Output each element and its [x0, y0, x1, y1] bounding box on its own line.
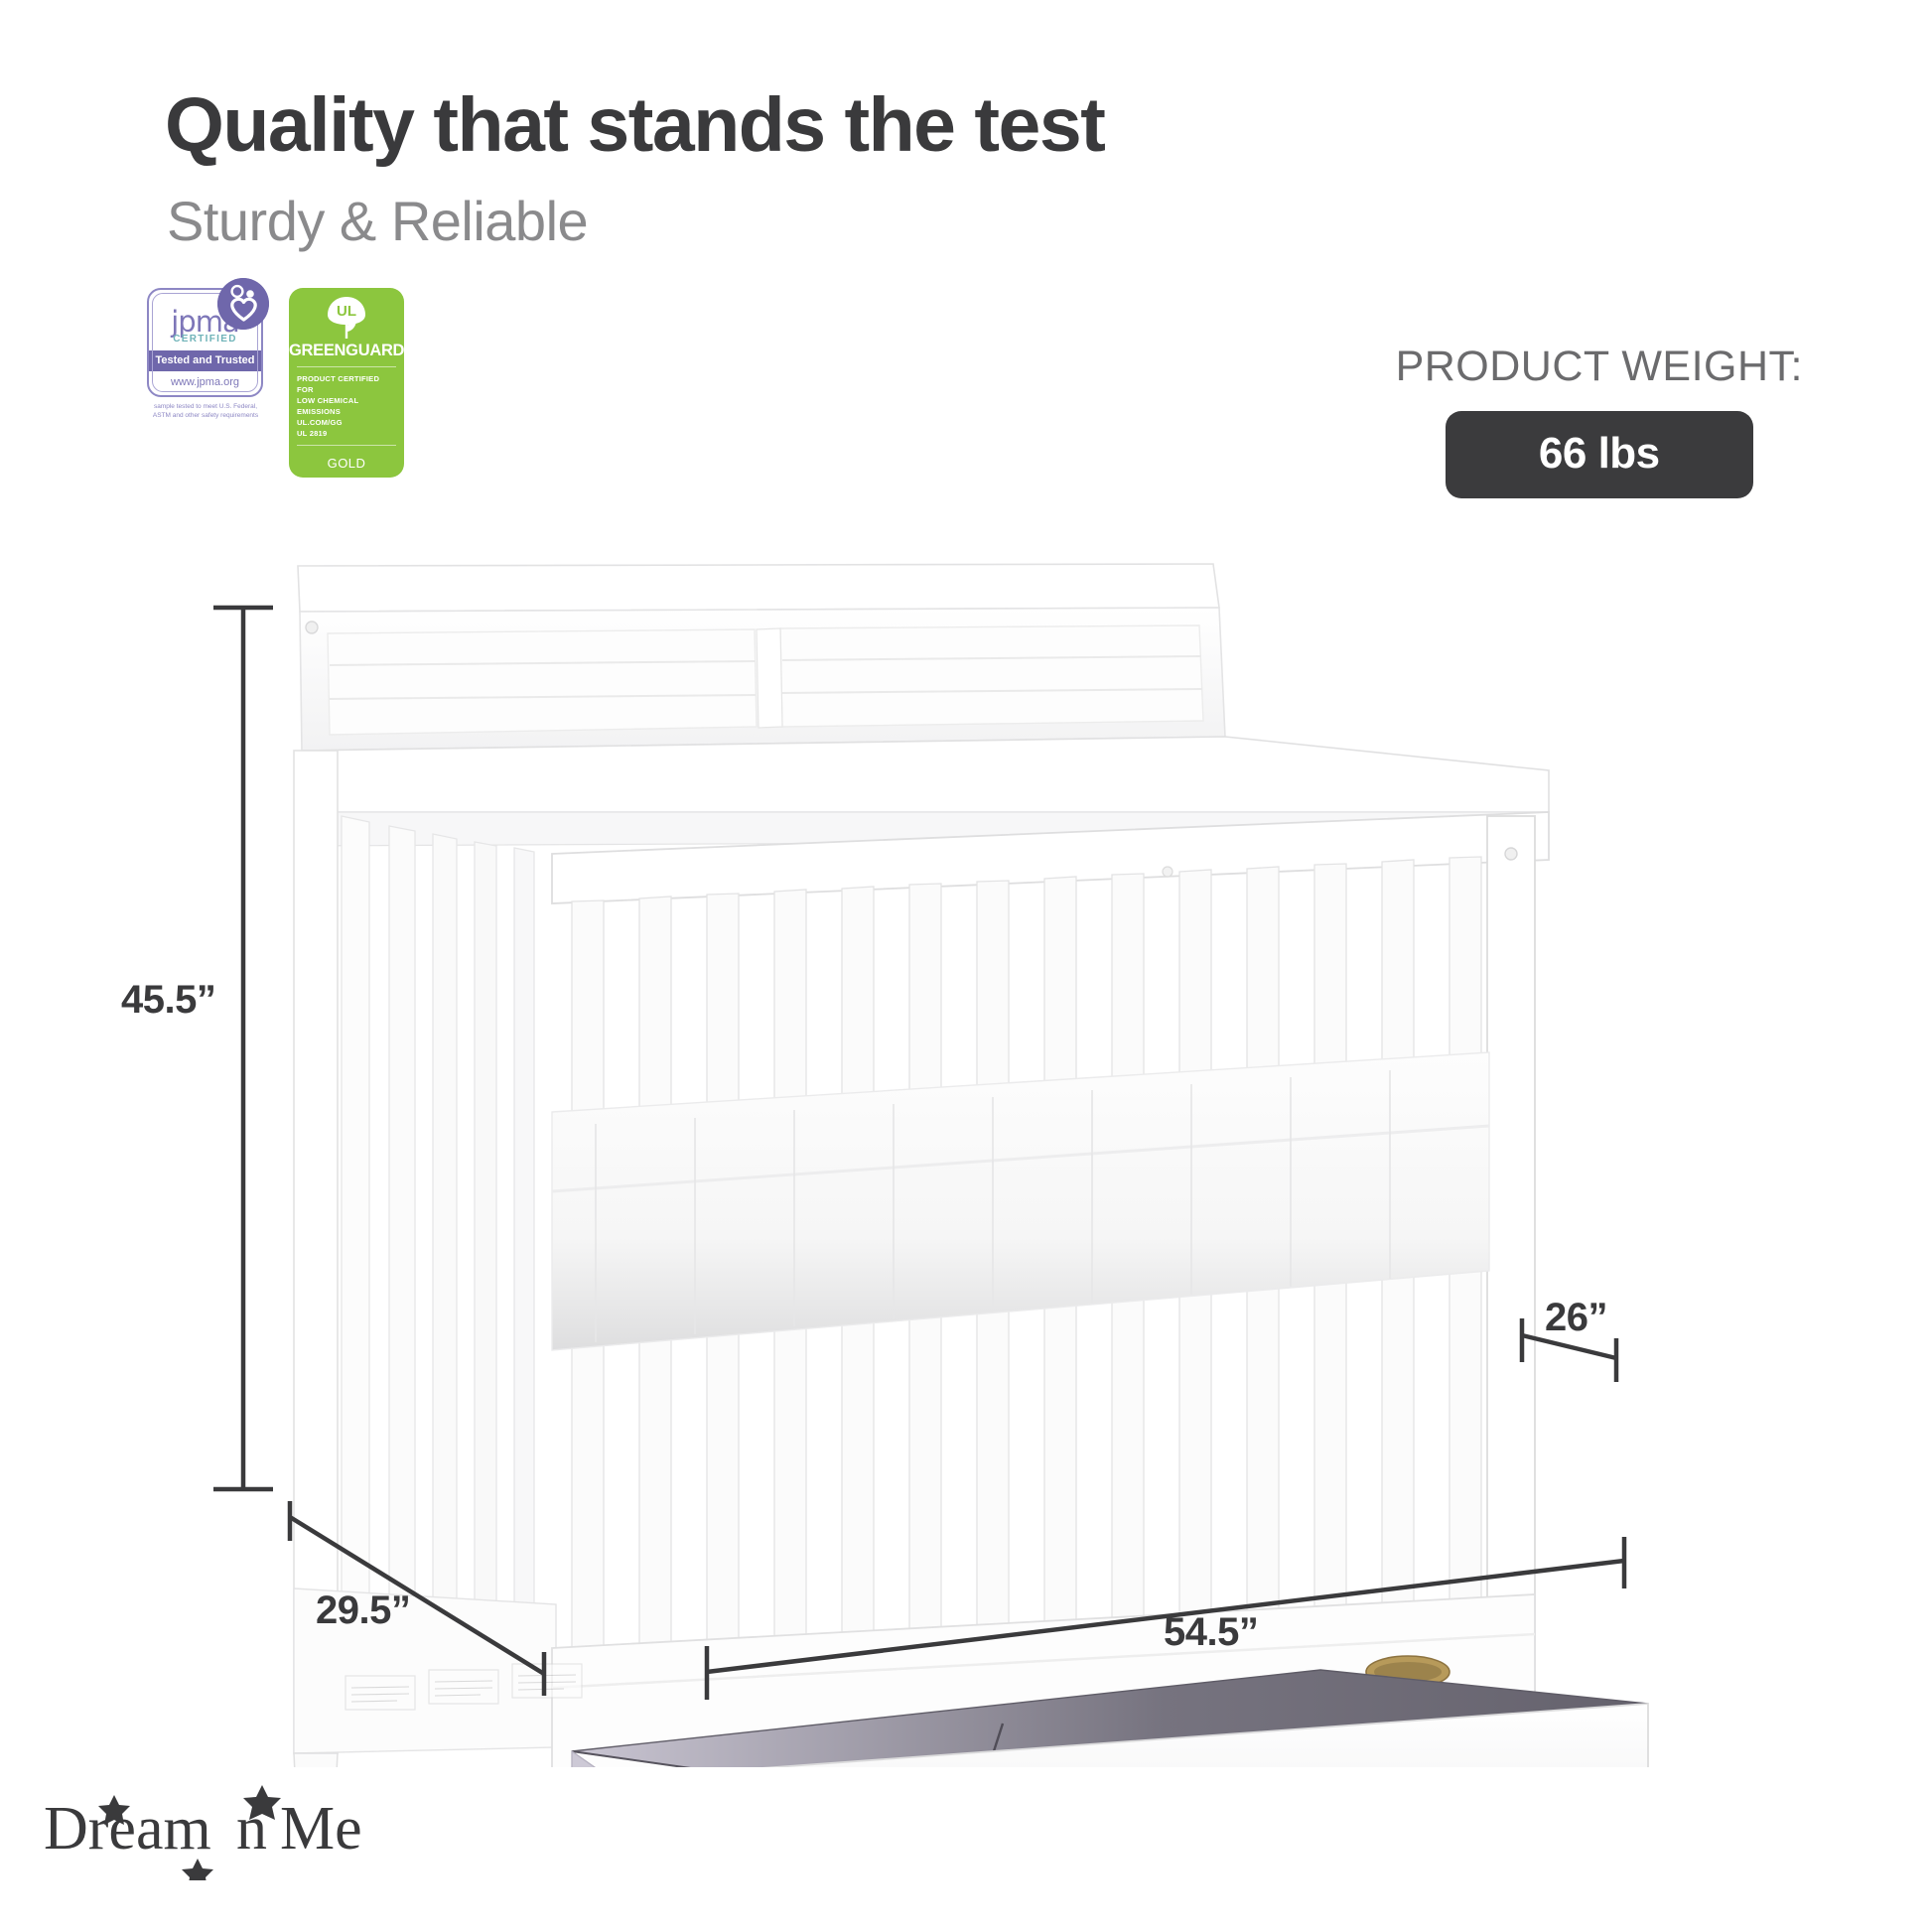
greenguard-desc-line-1: PRODUCT CERTIFIED FOR [297, 373, 396, 395]
greenguard-description: PRODUCT CERTIFIED FOR LOW CHEMICAL EMISS… [289, 373, 404, 439]
ul-leaf-icon: UL [325, 295, 368, 339]
svg-text:UL: UL [337, 303, 356, 320]
product-weight-block: PRODUCT WEIGHT: 66 lbs [1396, 343, 1803, 498]
greenguard-desc-line-4: UL 2819 [297, 428, 396, 439]
crib-drawing [0, 556, 1932, 1767]
page-title: Quality that stands the test [165, 81, 1104, 170]
greenguard-gold-badge: UL GREENGUARD PRODUCT CERTIFIED FOR LOW … [289, 288, 404, 478]
brand-text-dream: Dream [44, 1795, 211, 1863]
jpma-certified-label: CERTIFIED [149, 334, 261, 345]
crib-mattress [552, 1052, 1489, 1350]
product-weight-label: PRODUCT WEIGHT: [1396, 343, 1803, 391]
dimension-side-label: 26” [1545, 1296, 1607, 1340]
crib-headboard [298, 564, 1225, 751]
greenguard-mark: UL [289, 288, 404, 344]
jpma-parent-child-heart-icon [217, 278, 269, 330]
jpma-url: www.jpma.org [149, 371, 261, 395]
greenguard-divider [297, 366, 396, 367]
brand-text-me: Me [280, 1795, 362, 1863]
greenguard-level: GOLD [289, 452, 404, 476]
dimension-width-label: 54.5” [1164, 1610, 1258, 1655]
brand-logo-dream-on-me: Dream n Me [42, 1771, 369, 1880]
product-illustration [0, 556, 1932, 1767]
jpma-certified-badge: jpma CERTIFIED Tested and Trusted www.jp… [147, 288, 271, 421]
certification-badge-row: jpma CERTIFIED Tested and Trusted www.jp… [147, 288, 404, 478]
greenguard-desc-line-2: LOW CHEMICAL EMISSIONS [297, 395, 396, 417]
jpma-tagline: Tested and Trusted [149, 350, 261, 371]
jpma-fine-print: sample tested to meet U.S. Federal, ASTM… [147, 403, 264, 421]
greenguard-name: GREENGUARD [289, 342, 404, 360]
greenguard-divider-2 [297, 445, 396, 446]
greenguard-desc-line-3: UL.COM/GG [297, 417, 396, 428]
product-weight-value: 66 lbs [1446, 411, 1753, 498]
crib-legs [294, 1753, 556, 1767]
dimension-height-label: 45.5” [121, 978, 215, 1023]
dimension-depth-label: 29.5” [316, 1588, 410, 1633]
page-subtitle: Sturdy & Reliable [167, 189, 588, 253]
